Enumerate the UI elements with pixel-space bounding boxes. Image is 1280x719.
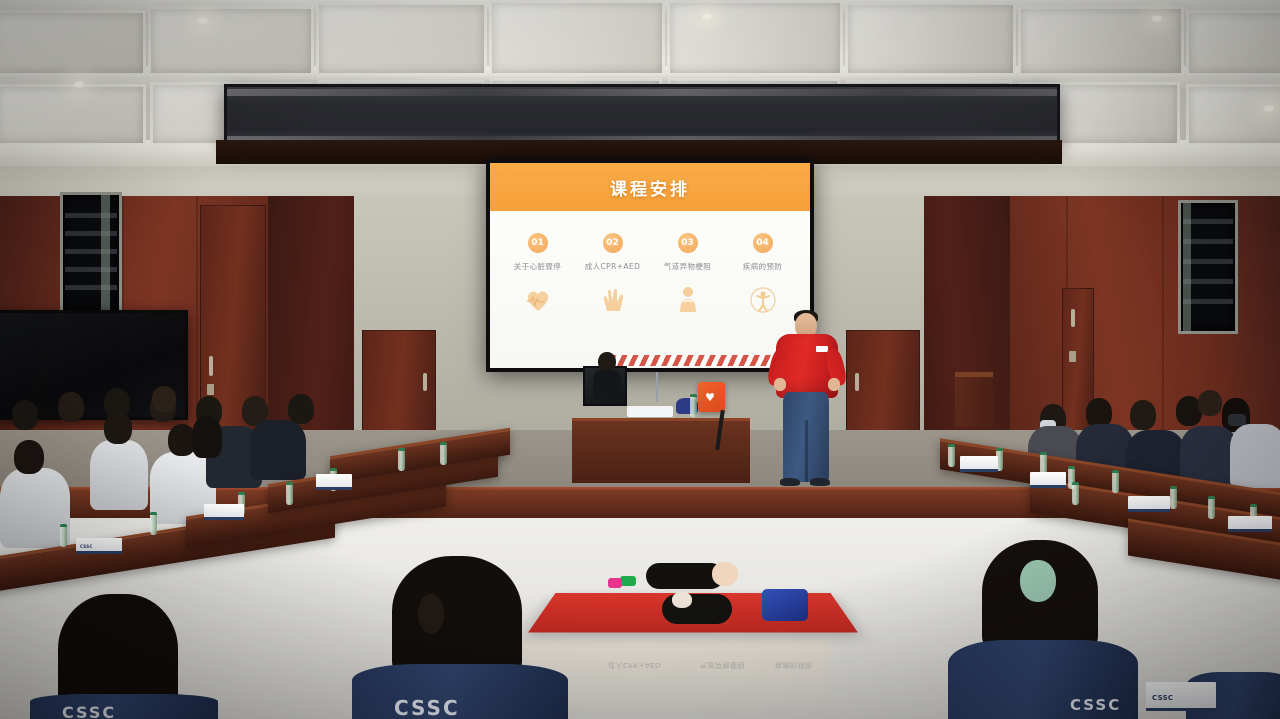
audience-head	[1198, 390, 1222, 416]
slide-item: 02 成人CPR+AED	[578, 233, 648, 368]
tissue-box	[1030, 472, 1066, 488]
tissue-box-foreground: CSSC	[1146, 682, 1216, 711]
tissue-box	[1228, 516, 1272, 532]
auditorium-scene: 课程安排 01 关于心脏骤停 02 成人CPR+AED	[0, 0, 1280, 719]
water-bottle	[286, 482, 293, 505]
choking-person-icon	[653, 280, 723, 320]
ceiling-downlight	[700, 12, 714, 21]
audience-head	[288, 394, 314, 424]
slide-item-label: 关于心脏骤停	[503, 261, 573, 272]
tissue-box	[1128, 496, 1170, 512]
heart-anatomy-icon	[503, 280, 573, 320]
tissue-box-logo: CSSC	[1152, 694, 1173, 702]
floor-reflection-text: 成人CPR+AED	[608, 660, 661, 670]
water-bottle	[1112, 470, 1119, 493]
hair-tie-accessory	[418, 594, 444, 634]
tissue-box	[316, 474, 352, 490]
aed-heart-icon: ♥	[705, 392, 715, 403]
slide-item-number: 03	[678, 233, 698, 253]
ceiling-panel	[148, 6, 314, 76]
led-banner-strip	[224, 84, 1060, 148]
operator-body	[593, 370, 621, 398]
slide-item: 01 关于心脏骤停	[503, 233, 573, 368]
water-bottle	[948, 444, 955, 467]
projection-screen: 课程安排 01 关于心脏骤停 02 成人CPR+AED	[486, 159, 814, 372]
water-bottle	[1072, 482, 1079, 505]
audience-head	[152, 386, 176, 412]
ceiling-downlight	[1262, 104, 1276, 113]
water-bottle	[440, 442, 447, 465]
audience-head-long-hair	[192, 416, 222, 458]
water-bottle	[398, 448, 405, 471]
manikin-accessory-pink	[608, 578, 622, 588]
ceiling-downlight	[72, 80, 86, 89]
slide-item-label: 气道异物梗阻	[653, 261, 723, 272]
slide-item-number: 02	[603, 233, 623, 253]
microphone-stand	[656, 372, 658, 402]
slide-content: 课程安排 01 关于心脏骤停 02 成人CPR+AED	[490, 163, 810, 368]
papers-on-desk	[627, 406, 673, 417]
ceiling-panel	[1186, 84, 1280, 146]
water-bottle	[150, 512, 157, 535]
ceiling-panel	[0, 84, 146, 146]
slide-title: 课程安排	[610, 175, 690, 200]
slide-item-label: 疾病的预防	[728, 261, 798, 272]
slide-title-bar: 课程安排	[490, 163, 810, 211]
projection-booth-window-right	[1178, 200, 1238, 334]
slide-item-number: 04	[753, 233, 773, 253]
water-bottle	[1208, 496, 1215, 519]
water-bottle	[60, 524, 67, 547]
presenter-hand-right	[828, 378, 840, 391]
operator-head	[598, 352, 616, 372]
prevention-shield-icon	[728, 280, 798, 320]
tissue-box: CSSC	[76, 538, 122, 554]
foreground-jacket	[30, 694, 218, 719]
operator-desk	[572, 418, 750, 483]
floor-reflection-text: 疾病的预防	[775, 660, 813, 670]
tissue-box	[960, 456, 998, 472]
projection-booth-window-left	[60, 192, 122, 314]
cpr-manikin-head-second	[672, 592, 692, 608]
tissue-box	[204, 504, 244, 520]
tissue-box-logo: CSSC	[80, 544, 93, 549]
audience-head	[104, 412, 132, 444]
floor-reflection-text: 气道异物梗阻	[700, 660, 745, 670]
slide-item-number: 01	[528, 233, 548, 253]
water-bottle	[1170, 486, 1177, 509]
audience-body-light	[1230, 424, 1280, 488]
ceiling-panel	[845, 2, 1016, 76]
audience-head	[58, 392, 84, 422]
slide-body: 01 关于心脏骤停 02 成人CPR+AED	[490, 211, 810, 368]
jacket-brand-text: CSSC	[1070, 696, 1121, 714]
jacket-brand-text: CSSC	[62, 703, 116, 719]
ceiling-panel	[489, 0, 665, 76]
audience-body-dark	[250, 420, 306, 480]
ceiling-downlight	[1150, 14, 1164, 23]
jacket-brand-text: CSSC	[394, 696, 460, 719]
hair-scrunchie	[1020, 560, 1056, 602]
slide-item: 03 气道异物梗阻	[653, 233, 723, 368]
water-bottle	[690, 394, 697, 417]
ceiling-panel	[0, 10, 146, 76]
slide-item-label: 成人CPR+AED	[578, 261, 648, 272]
presenter-shoe-left	[780, 478, 800, 486]
presenter-hand-left	[774, 378, 786, 391]
foreground-jacket	[352, 664, 568, 719]
equipment-bag-blue	[762, 589, 808, 621]
presenter-shoe-right	[810, 478, 830, 486]
manikin-face-shield	[620, 576, 636, 586]
ceiling-downlight	[196, 16, 210, 25]
ceiling-panel	[667, 0, 843, 76]
foreground-hair	[392, 556, 522, 676]
ceiling-panel	[1186, 10, 1280, 76]
audience-body-white	[90, 440, 148, 510]
ceiling-panel	[316, 2, 487, 76]
audience-head	[12, 400, 38, 430]
cpr-manikin-head	[712, 562, 738, 586]
audience-head	[14, 440, 44, 474]
podium	[955, 372, 993, 427]
hands-compression-icon	[578, 280, 648, 320]
audience-head	[1130, 400, 1156, 430]
